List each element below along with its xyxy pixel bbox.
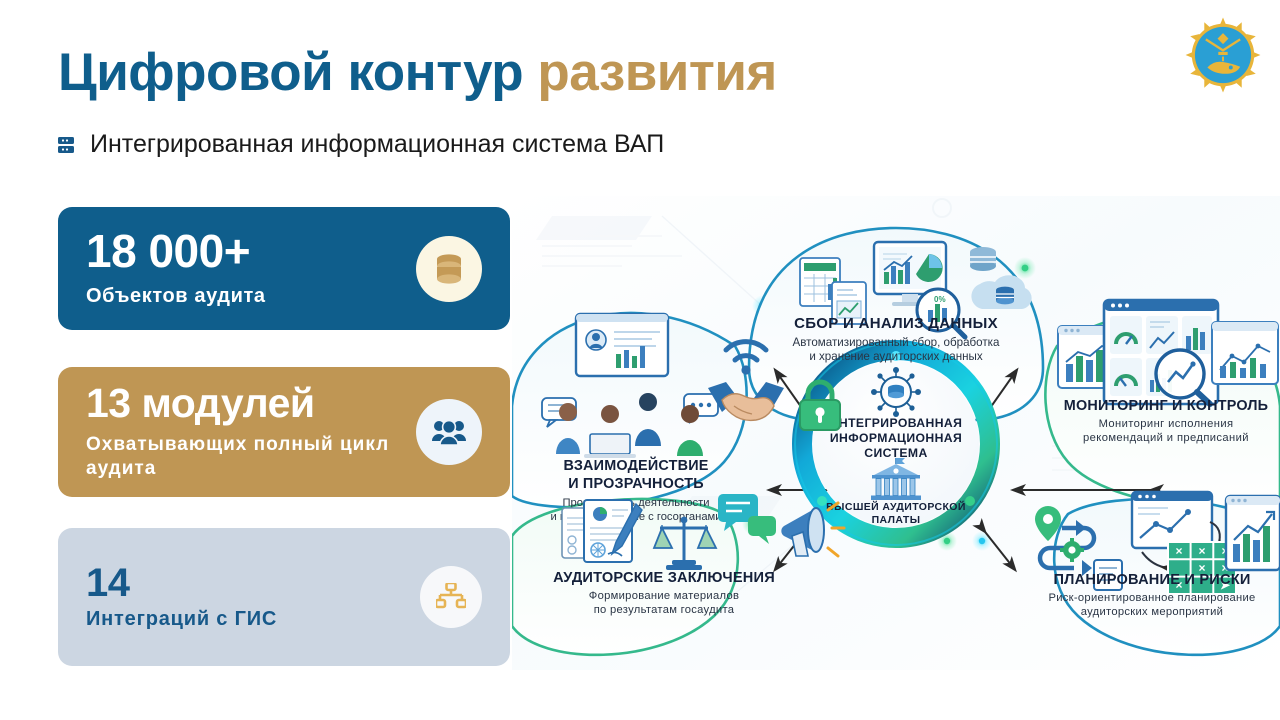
node-data-desc-1: Автоматизированный сбор, обработка	[793, 336, 1000, 349]
stat-label: Охватывающих полный цикл аудита	[86, 433, 400, 481]
diagram-panel: ИНТЕГРИРОВАННАЯ ИНФОРМАЦИОННАЯ СИСТЕМА В…	[512, 196, 1280, 670]
small-db-icon	[970, 247, 996, 271]
node-data-title: СБОР И АНАЛИЗ ДАННЫХ	[794, 315, 998, 332]
node-data[interactable]: 0% СБОР И АНАЛИЗ ДАННЫХ Автоматизир	[793, 242, 1032, 363]
database-icon	[434, 253, 464, 285]
node-transparency-title-2: И ПРОЗРАЧНОСТЬ	[568, 476, 704, 492]
stat-card-integrations[interactable]: 14 Интеграций с ГИС	[58, 528, 510, 666]
node-reports-desc-1: Формирование материалов	[589, 590, 739, 602]
svg-text:×: ×	[1198, 544, 1205, 558]
svg-text:0%: 0%	[934, 295, 946, 304]
node-planning-desc-2: аудиторских мероприятий	[1081, 606, 1223, 618]
kazakhstan-emblem-icon	[1184, 16, 1262, 94]
growth-chart-icon	[1226, 496, 1280, 570]
stat-icon-wrapper	[416, 236, 482, 302]
page-title-primary: Цифровой контур	[58, 43, 537, 102]
node-reports-desc-2: по результатам госаудита	[594, 604, 735, 616]
node-transparency-title-1: ВЗАИМОДЕЙСТВИЕ	[563, 456, 708, 474]
users-group-icon	[432, 419, 466, 445]
subtitle-row: Интегрированная информационная система В…	[58, 130, 664, 159]
node-reports-title: АУДИТОРСКИЕ ЗАКЛЮЧЕНИЯ	[553, 570, 775, 586]
stat-card-text: 18 000+ Объектов аудита	[86, 228, 400, 309]
page-title-accent: развития	[537, 43, 776, 102]
gauge-panel-icon	[1104, 300, 1218, 404]
stat-card-audit-objects[interactable]: 18 000+ Объектов аудита	[58, 207, 510, 330]
integrated-system-diagram: ИНТЕГРИРОВАННАЯ ИНФОРМАЦИОННАЯ СИСТЕМА В…	[512, 196, 1280, 670]
node-planning-desc-1: Риск-ориентированное планирование	[1048, 592, 1255, 604]
node-data-desc-2: и хранение аудиторских данных	[809, 350, 983, 363]
signed-document-icon	[562, 500, 642, 562]
stat-label: Объектов аудита	[86, 284, 400, 309]
node-monitoring-title: МОНИТОРИНГ И КОНТРОЛЬ	[1064, 398, 1268, 414]
stat-card-text: 14 Интеграций с ГИС	[86, 563, 404, 632]
stat-number: 13 модулей	[86, 383, 400, 424]
page-title: Цифровой контур развития	[58, 42, 777, 103]
stat-card-text: 13 модулей Охватывающих полный цикл ауди…	[86, 383, 400, 481]
stat-icon-wrapper	[420, 566, 482, 628]
database-icon	[58, 136, 74, 154]
sitemap-network-icon	[436, 583, 466, 611]
hub-line-2: ИНФОРМАЦИОННАЯ	[830, 431, 962, 445]
stat-number: 14	[86, 563, 404, 603]
hub-line-5: ПАЛАТЫ	[872, 514, 921, 526]
bar-chart-icon	[1212, 322, 1278, 384]
node-planning-title: ПЛАНИРОВАНИЕ И РИСКИ	[1053, 572, 1250, 588]
svg-text:×: ×	[1175, 544, 1182, 558]
page-subtitle: Интегрированная информационная система В…	[90, 130, 664, 159]
stat-icon-wrapper	[416, 399, 482, 465]
hub-line-1: ИНТЕГРИРОВАННАЯ	[830, 416, 963, 430]
stat-number: 18 000+	[86, 228, 400, 274]
hub-line-4: ВЫСШЕЙ АУДИТОРСКОЙ	[826, 500, 966, 513]
hub-line-3: СИСТЕМА	[864, 446, 927, 460]
node-monitoring-desc-2: рекомендаций и предписаний	[1083, 432, 1249, 444]
stat-label: Интеграций с ГИС	[86, 607, 404, 632]
database-network-icon	[871, 367, 921, 417]
node-monitoring-desc-1: Мониторинг исполнения	[1099, 418, 1234, 430]
stat-card-modules[interactable]: 13 модулей Охватывающих полный цикл ауди…	[58, 367, 510, 497]
